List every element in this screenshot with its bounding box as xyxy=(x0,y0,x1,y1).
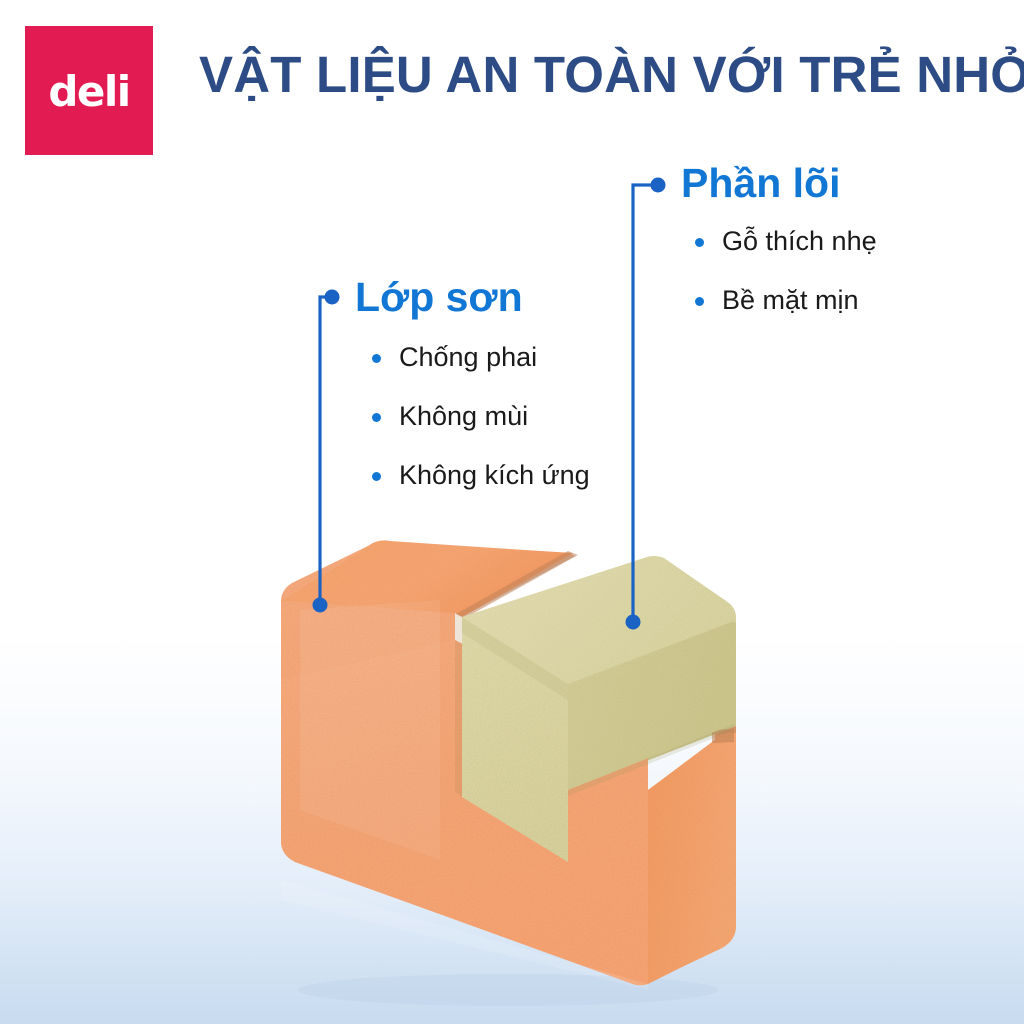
brand-logo: deli xyxy=(25,26,153,155)
bullet-dot-icon xyxy=(372,413,381,422)
brand-logo-text: deli xyxy=(48,71,129,113)
list-item-label: Không kích ứng xyxy=(399,460,590,490)
leader-dot-label-lop-son xyxy=(325,290,340,305)
list-item: Bề mặt mịn xyxy=(691,287,877,314)
callout-list-phan-loi: Gỗ thích nhẹ Bề mặt mịn xyxy=(691,228,877,314)
leader-dot-target-lop-son xyxy=(313,598,328,613)
list-item: Không mùi xyxy=(368,403,590,430)
bullet-dot-icon xyxy=(372,472,381,481)
list-item-label: Gỗ thích nhẹ xyxy=(722,226,877,256)
page-title: VẬT LIỆU AN TOÀN VỚI TRẺ NHỎ xyxy=(199,45,1024,105)
callout-lop-son: Lớp sơn Chống phai Không mùi Không kích … xyxy=(355,277,590,489)
leader-line-lop-son xyxy=(313,290,340,613)
callout-title-lop-son: Lớp sơn xyxy=(355,277,590,318)
list-item: Gỗ thích nhẹ xyxy=(691,228,877,255)
callout-list-lop-son: Chống phai Không mùi Không kích ứng xyxy=(368,344,590,489)
callout-leader-lines xyxy=(0,0,1024,1024)
callout-title-phan-loi: Phần lõi xyxy=(681,163,877,204)
callout-phan-loi: Phần lõi Gỗ thích nhẹ Bề mặt mịn xyxy=(681,163,877,314)
leader-line-phan-loi xyxy=(626,178,666,630)
bullet-dot-icon xyxy=(695,238,704,247)
list-item: Không kích ứng xyxy=(368,462,590,489)
list-item: Chống phai xyxy=(368,344,590,371)
leader-dot-target-phan-loi xyxy=(626,615,641,630)
bullet-dot-icon xyxy=(695,297,704,306)
infographic-canvas: deli VẬT LIỆU AN TOÀN VỚI TRẺ NHỎ Lớp sơ… xyxy=(0,0,1024,1024)
list-item-label: Bề mặt mịn xyxy=(722,285,859,315)
list-item-label: Không mùi xyxy=(399,401,528,431)
leader-dot-label-phan-loi xyxy=(651,178,666,193)
list-item-label: Chống phai xyxy=(399,342,537,372)
bullet-dot-icon xyxy=(372,354,381,363)
